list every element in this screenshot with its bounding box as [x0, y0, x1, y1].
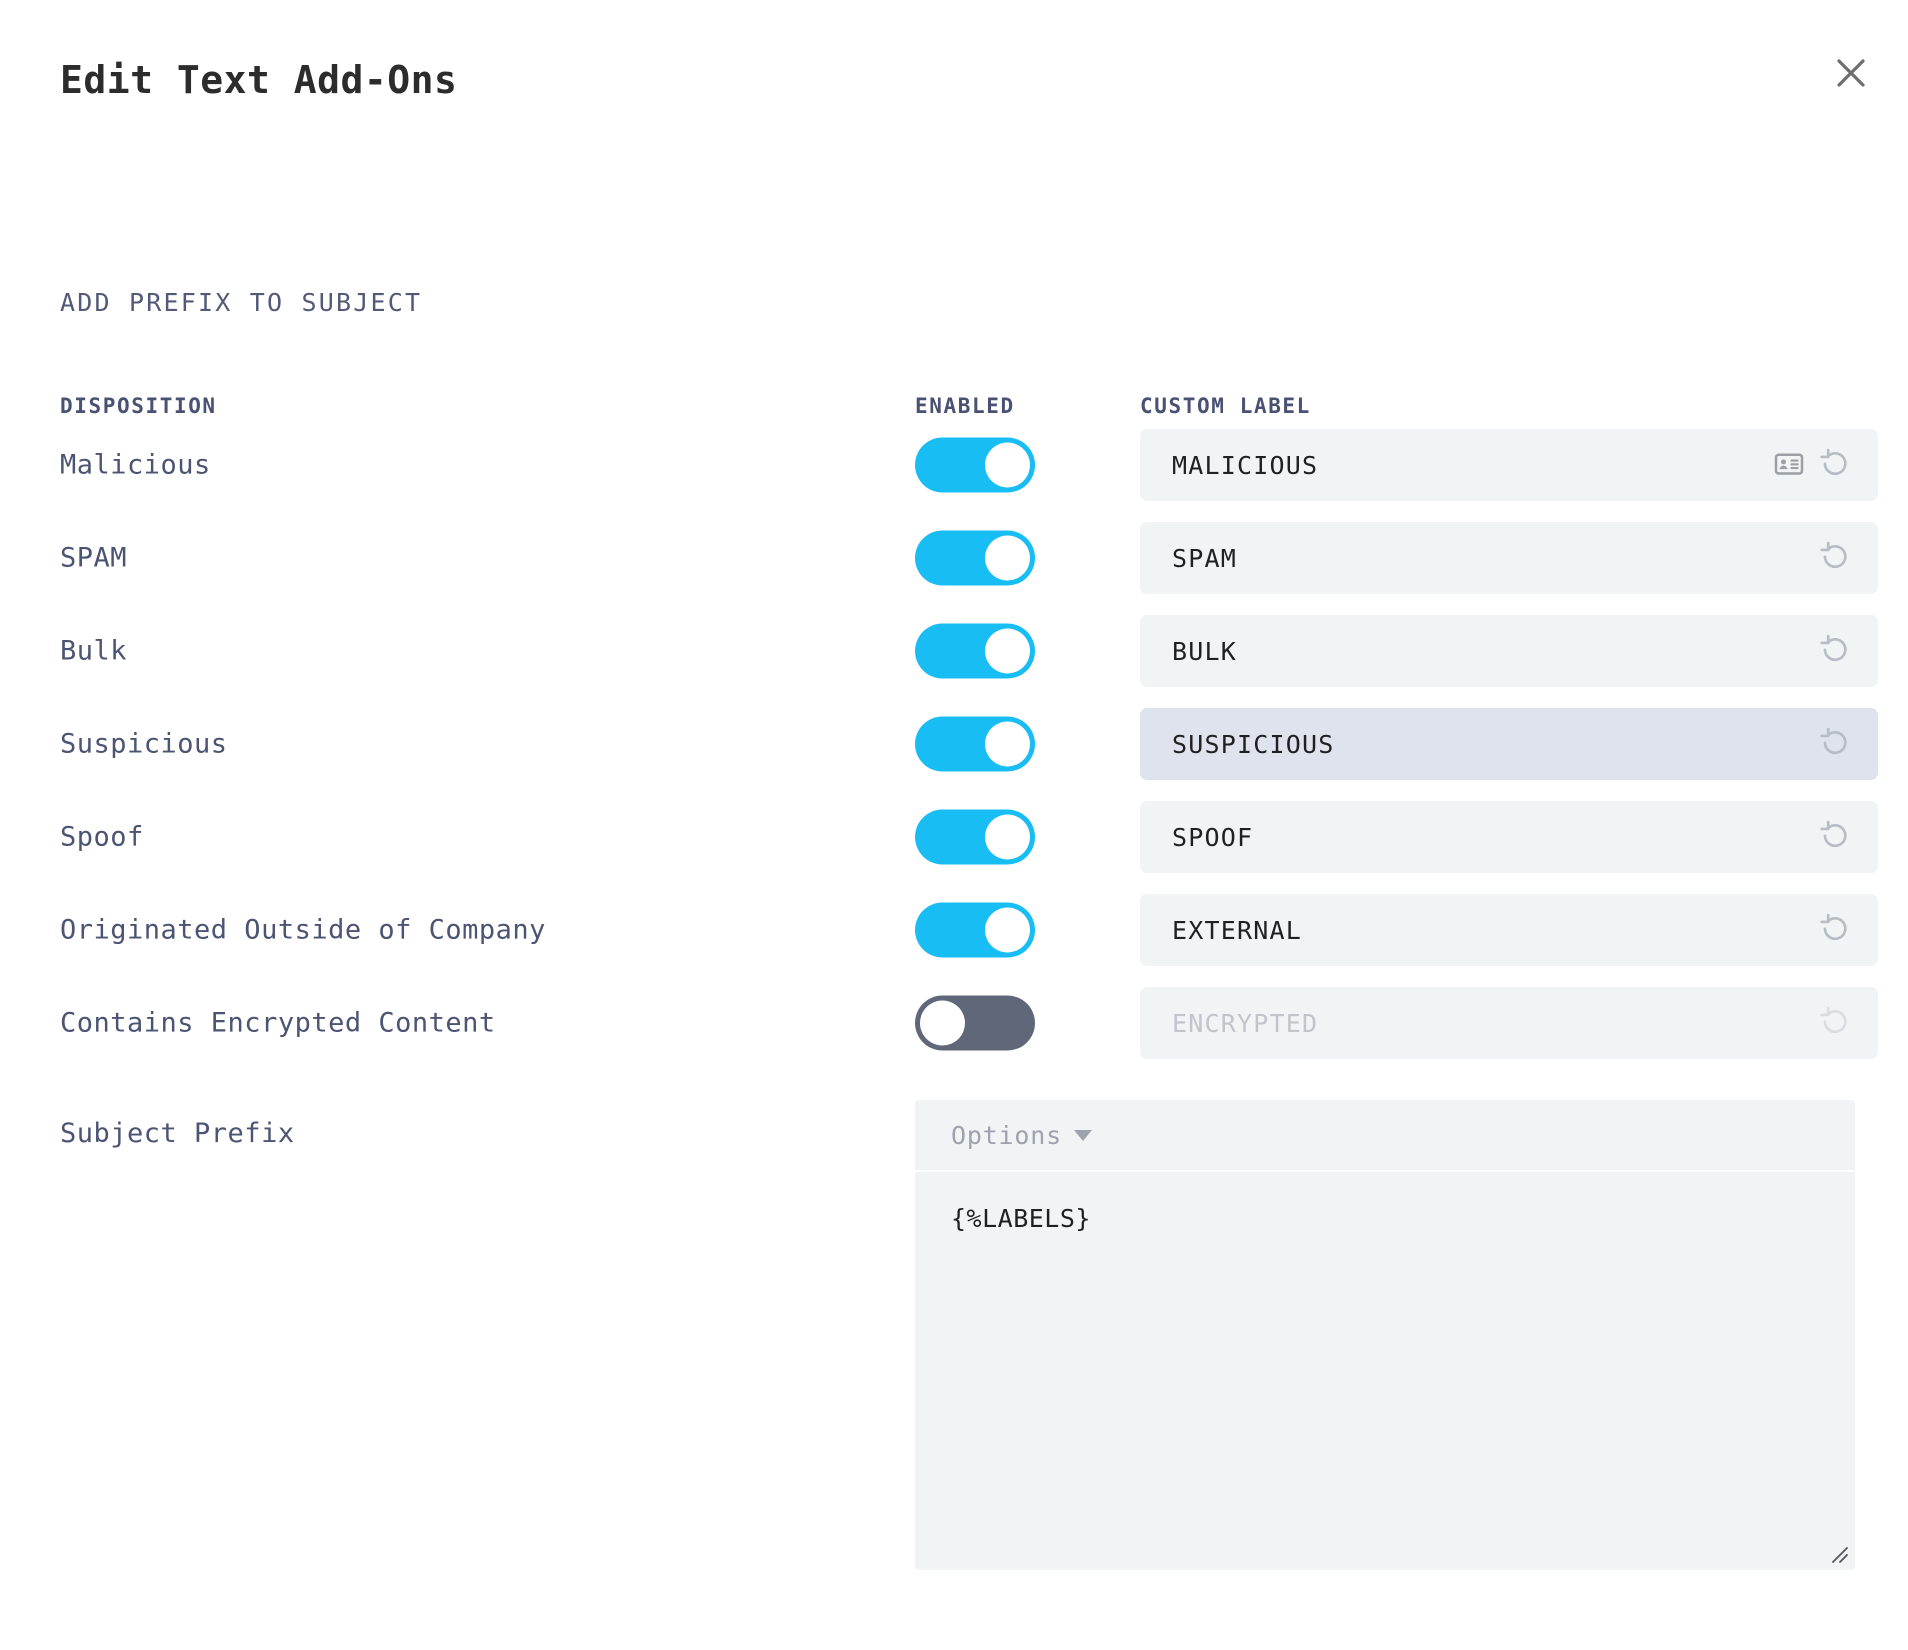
- column-header-custom-label: CUSTOM LABEL: [1140, 394, 1311, 418]
- options-dropdown[interactable]: Options: [951, 1121, 1092, 1150]
- resize-handle-icon[interactable]: [1825, 1540, 1849, 1564]
- toggle-knob: [920, 1001, 965, 1046]
- disposition-label: Spoof: [60, 822, 144, 853]
- toggle-knob: [985, 722, 1030, 767]
- subject-prefix-textarea[interactable]: {%LABELS}: [915, 1174, 1855, 1570]
- dialog-header: Edit Text Add-Ons: [0, 0, 1908, 150]
- reset-button[interactable]: [1818, 819, 1852, 856]
- enabled-toggle[interactable]: [915, 903, 1035, 958]
- field-icon-group: [1774, 447, 1852, 484]
- custom-label-field[interactable]: MALICIOUS: [1140, 429, 1878, 501]
- reset-button: [1818, 1005, 1852, 1042]
- disposition-label: Malicious: [60, 450, 211, 481]
- custom-label-value: MALICIOUS: [1172, 451, 1774, 480]
- reset-icon: [1818, 726, 1852, 763]
- table-row: Originated Outside of CompanyEXTERNAL: [0, 895, 1908, 965]
- custom-label-field[interactable]: SUSPICIOUS: [1140, 708, 1878, 780]
- close-icon: [1834, 56, 1868, 90]
- contact-card-button[interactable]: [1774, 449, 1804, 482]
- custom-label-field[interactable]: SPAM: [1140, 522, 1878, 594]
- field-icon-group: [1818, 819, 1852, 856]
- reset-icon: [1818, 1005, 1852, 1042]
- custom-label-value: SUSPICIOUS: [1172, 730, 1818, 759]
- reset-button[interactable]: [1818, 633, 1852, 670]
- custom-label-field[interactable]: SPOOF: [1140, 801, 1878, 873]
- toggle-knob: [985, 815, 1030, 860]
- custom-label-field: ENCRYPTED: [1140, 987, 1878, 1059]
- custom-label-value: BULK: [1172, 637, 1818, 666]
- enabled-toggle[interactable]: [915, 810, 1035, 865]
- editor-toolbar: Options: [915, 1100, 1855, 1172]
- section-heading: ADD PREFIX TO SUBJECT: [60, 288, 422, 317]
- disposition-label: Suspicious: [60, 729, 228, 760]
- field-icon-group: [1818, 540, 1852, 577]
- reset-icon: [1818, 633, 1852, 670]
- custom-label-value: SPOOF: [1172, 823, 1818, 852]
- column-header-disposition: DISPOSITION: [60, 394, 217, 418]
- field-icon-group: [1818, 912, 1852, 949]
- reset-button[interactable]: [1818, 912, 1852, 949]
- edit-text-addons-dialog: Edit Text Add-Ons ADD PREFIX TO SUBJECT …: [0, 0, 1908, 1650]
- table-row: BulkBULK: [0, 616, 1908, 686]
- disposition-label: Bulk: [60, 636, 127, 667]
- enabled-toggle[interactable]: [915, 717, 1035, 772]
- subject-prefix-value: {%LABELS}: [951, 1204, 1091, 1233]
- toggle-knob: [985, 536, 1030, 581]
- disposition-label: Originated Outside of Company: [60, 915, 546, 946]
- table-row: SpoofSPOOF: [0, 802, 1908, 872]
- reset-button[interactable]: [1818, 447, 1852, 484]
- contact-card-icon: [1774, 449, 1804, 482]
- toggle-knob: [985, 908, 1030, 953]
- enabled-toggle[interactable]: [915, 438, 1035, 493]
- custom-label-value: ENCRYPTED: [1172, 1009, 1818, 1038]
- enabled-toggle[interactable]: [915, 624, 1035, 679]
- toggle-knob: [985, 443, 1030, 488]
- custom-label-value: EXTERNAL: [1172, 916, 1818, 945]
- page-title: Edit Text Add-Ons: [60, 58, 457, 102]
- table-row: Contains Encrypted ContentENCRYPTED: [0, 988, 1908, 1058]
- reset-icon: [1818, 540, 1852, 577]
- reset-button[interactable]: [1818, 540, 1852, 577]
- column-header-enabled: ENABLED: [915, 394, 1015, 418]
- enabled-toggle[interactable]: [915, 531, 1035, 586]
- reset-icon: [1818, 447, 1852, 484]
- table-row: MaliciousMALICIOUS: [0, 430, 1908, 500]
- custom-label-field[interactable]: BULK: [1140, 615, 1878, 687]
- subject-prefix-label: Subject Prefix: [60, 1118, 295, 1149]
- table-row: SuspiciousSUSPICIOUS: [0, 709, 1908, 779]
- toggle-knob: [985, 629, 1030, 674]
- custom-label-value: SPAM: [1172, 544, 1818, 573]
- enabled-toggle[interactable]: [915, 996, 1035, 1051]
- field-icon-group: [1818, 726, 1852, 763]
- options-dropdown-label: Options: [951, 1121, 1062, 1150]
- reset-icon: [1818, 819, 1852, 856]
- reset-icon: [1818, 912, 1852, 949]
- close-button[interactable]: [1820, 42, 1882, 104]
- custom-label-field[interactable]: EXTERNAL: [1140, 894, 1878, 966]
- chevron-down-icon: [1074, 1130, 1092, 1141]
- subject-prefix-editor: Options {%LABELS}: [915, 1100, 1855, 1570]
- field-icon-group: [1818, 1005, 1852, 1042]
- table-row: SPAMSPAM: [0, 523, 1908, 593]
- disposition-label: Contains Encrypted Content: [60, 1008, 496, 1039]
- disposition-label: SPAM: [60, 543, 127, 574]
- field-icon-group: [1818, 633, 1852, 670]
- reset-button[interactable]: [1818, 726, 1852, 763]
